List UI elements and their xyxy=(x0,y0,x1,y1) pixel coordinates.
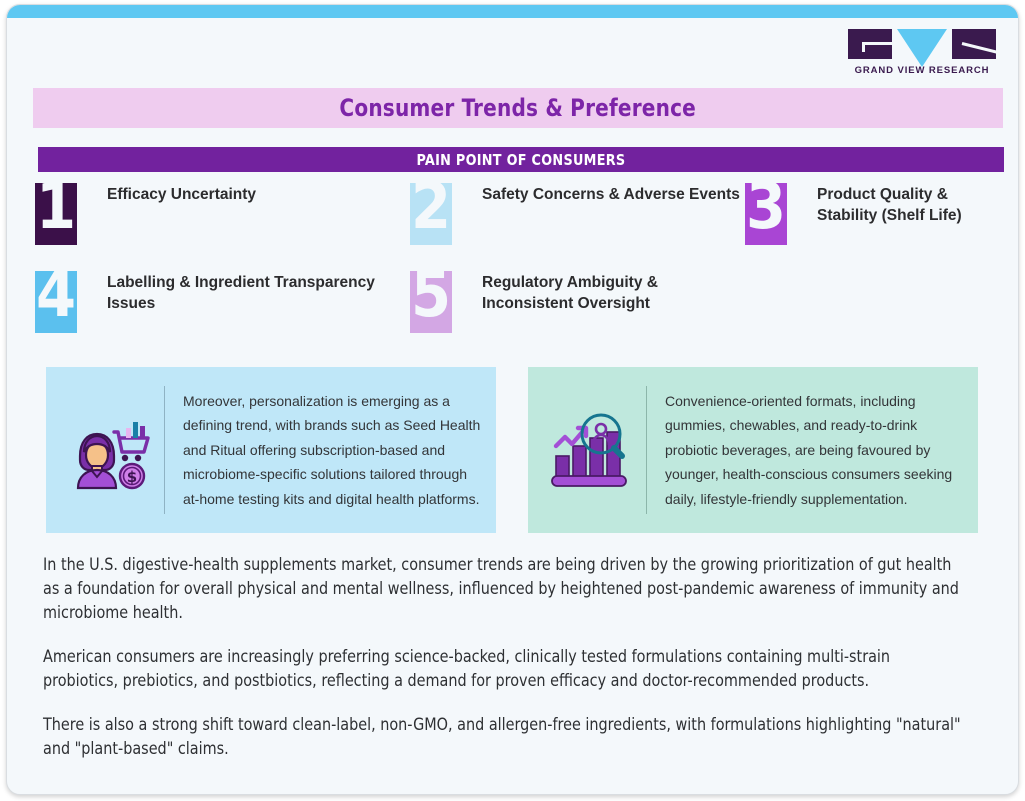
pain-point-label-4: Labelling & Ingredient Transparency Issu… xyxy=(107,273,410,314)
number-badge-1-icon: 1 xyxy=(35,183,77,245)
page-title: Consumer Trends & Preference xyxy=(340,94,697,122)
number-badge-5-label: 5 xyxy=(410,271,452,327)
pain-point-label-3: Product Quality & Stability (Shelf Life) xyxy=(817,185,1010,226)
logo-g-mark-icon xyxy=(848,29,892,59)
pain-point-item-5: 5 Regulatory Ambiguity & Inconsistent Ov… xyxy=(410,271,745,333)
page-title-bar: Consumer Trends & Preference xyxy=(33,88,1003,128)
number-badge-2-icon: 2 xyxy=(410,183,452,245)
pain-point-label-5: Regulatory Ambiguity & Inconsistent Over… xyxy=(482,273,745,314)
highlight-boxes: $ Moreover, personalization is emerging … xyxy=(46,367,996,533)
pain-point-grid: 1 Efficacy Uncertainty 2 Safety Concerns… xyxy=(35,183,1010,333)
brand-logo: GRAND VIEW RESEARCH xyxy=(848,29,996,76)
pain-point-item-2: 2 Safety Concerns & Adverse Events xyxy=(410,183,745,245)
highlight-box-convenience: Convenience-oriented formats, including … xyxy=(528,367,978,533)
highlight-text-personalization: Moreover, personalization is emerging as… xyxy=(183,389,482,512)
number-badge-3-icon: 3 xyxy=(745,183,787,245)
body-paragraphs: In the U.S. digestive-health supplements… xyxy=(43,553,998,760)
number-badge-2-label: 2 xyxy=(410,183,452,239)
number-badge-4-icon: 4 xyxy=(35,271,77,333)
pain-point-item-3: 3 Product Quality & Stability (Shelf Lif… xyxy=(745,183,1010,245)
body-paragraph-1: In the U.S. digestive-health supplements… xyxy=(43,553,969,625)
logo-v-triangle-icon xyxy=(897,29,947,67)
number-badge-1-label: 1 xyxy=(35,183,77,239)
svg-text:$: $ xyxy=(127,468,137,486)
body-paragraph-3: There is also a strong shift toward clea… xyxy=(43,713,969,761)
highlight-text-convenience: Convenience-oriented formats, including … xyxy=(665,389,964,512)
pain-point-row: 4 Labelling & Ingredient Transparency Is… xyxy=(35,271,1010,333)
section-banner: PAIN POINT OF CONSUMERS xyxy=(38,147,1004,172)
pain-point-row: 1 Efficacy Uncertainty 2 Safety Concerns… xyxy=(35,183,1010,245)
section-banner-label: PAIN POINT OF CONSUMERS xyxy=(417,151,626,169)
top-accent-bar xyxy=(7,5,1018,18)
logo-wordmark: GRAND VIEW RESEARCH xyxy=(848,65,996,76)
number-badge-5-icon: 5 xyxy=(410,271,452,333)
number-badge-4-label: 4 xyxy=(35,271,77,327)
highlight-divider xyxy=(164,386,165,514)
pain-point-item-1: 1 Efficacy Uncertainty xyxy=(35,183,410,245)
highlight-box-personalization: $ Moreover, personalization is emerging … xyxy=(46,367,496,533)
pain-point-label-2: Safety Concerns & Adverse Events xyxy=(482,185,740,206)
infographic-card: GRAND VIEW RESEARCH Consumer Trends & Pr… xyxy=(6,4,1019,795)
pain-point-label-1: Efficacy Uncertainty xyxy=(107,185,256,206)
consumer-shopping-cart-icon: $ xyxy=(54,410,164,490)
body-paragraph-2: American consumers are increasingly pref… xyxy=(43,645,969,693)
logo-marks xyxy=(848,29,996,61)
pain-point-item-4: 4 Labelling & Ingredient Transparency Is… xyxy=(35,271,410,333)
number-badge-3-label: 3 xyxy=(745,183,787,239)
logo-r-mark-icon xyxy=(952,29,996,59)
growth-chart-search-icon xyxy=(536,410,646,490)
highlight-divider xyxy=(646,386,647,514)
